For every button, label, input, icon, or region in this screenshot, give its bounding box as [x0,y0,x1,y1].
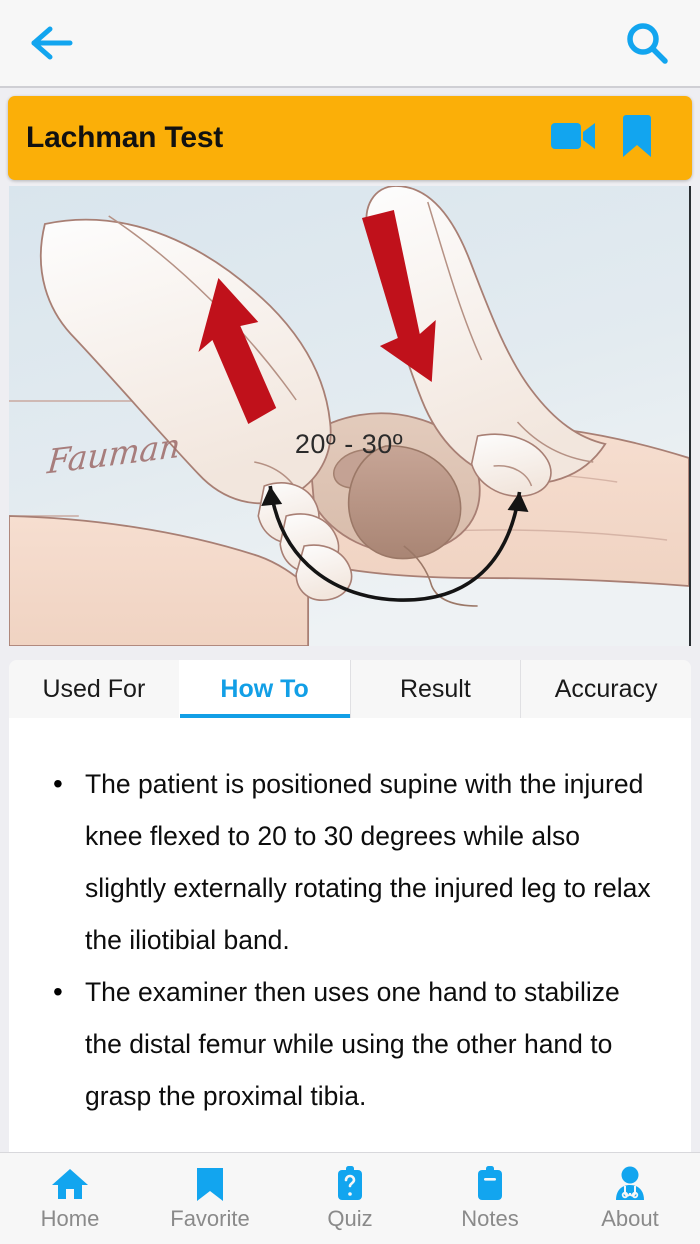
tab-content-panel[interactable]: The patient is positioned supine with th… [9,718,691,1152]
bookmark-icon [621,114,653,163]
list-item: The patient is positioned supine with th… [39,758,661,966]
tab-result[interactable]: Result [350,660,521,718]
list-item: The examiner then uses one hand to stabi… [39,966,661,1122]
clipboard-question-icon [335,1166,365,1202]
app-screen: Lachman Test [0,0,700,1244]
tab-label: Result [400,675,471,704]
tab-label: Accuracy [555,675,658,704]
video-button[interactable] [544,107,606,169]
page-title: Lachman Test [26,121,544,155]
nav-item-home[interactable]: Home [0,1153,140,1244]
nav-label: Home [41,1206,100,1232]
test-title-bar: Lachman Test [8,96,692,180]
title-bar-container: Lachman Test [0,88,700,180]
doctor-icon [613,1166,647,1202]
search-button[interactable] [618,14,676,72]
nav-item-about[interactable]: About [560,1153,700,1244]
tab-used-for[interactable]: Used For [9,660,179,718]
nav-label: About [601,1206,659,1232]
nav-item-quiz[interactable]: Quiz [280,1153,420,1244]
tab-label: How To [220,675,308,704]
tab-how-to[interactable]: How To [179,660,350,718]
home-icon [50,1166,90,1202]
instruction-list: The patient is positioned supine with th… [39,758,661,1122]
tabs-container: Used For How To Result Accuracy [0,646,700,718]
top-app-bar [0,0,700,88]
arrow-left-icon [30,24,76,62]
tab-bar: Used For How To Result Accuracy [9,660,691,718]
nav-label: Quiz [327,1206,372,1232]
clipboard-icon [475,1166,505,1202]
lachman-test-knee-illustration[interactable]: 20º - 30º Fauman [9,186,691,646]
nav-label: Notes [461,1206,518,1232]
nav-item-favorite[interactable]: Favorite [140,1153,280,1244]
bottom-navigation-bar: Home Favorite Quiz [0,1152,700,1244]
nav-item-notes[interactable]: Notes [420,1153,560,1244]
video-camera-icon [550,119,600,158]
tab-label: Used For [42,675,145,704]
bookmark-button[interactable] [606,107,668,169]
tab-accuracy[interactable]: Accuracy [520,660,691,718]
illustration-container: 20º - 30º Fauman [0,180,700,646]
back-button[interactable] [24,14,82,72]
nav-label: Favorite [170,1206,249,1232]
bookmark-icon [196,1166,224,1202]
search-icon [624,20,670,66]
